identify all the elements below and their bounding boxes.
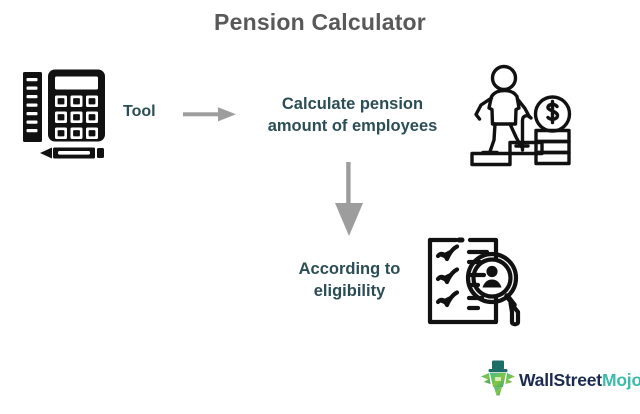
diagram-canvas: Pension Calculator (0, 0, 640, 414)
node-label-eligibility: According to eligibility (272, 258, 427, 302)
calculator-icon (22, 68, 108, 165)
node-label-tool: Tool (123, 103, 156, 121)
logo-wordmark-part-2: Mojo (602, 370, 640, 390)
node-label-eligibility-line-1: According to (272, 258, 427, 280)
node-label-eligibility-line-2: eligibility (272, 280, 427, 302)
arrow-down-icon (332, 162, 366, 243)
retirement-savings-icon (464, 62, 576, 175)
arrow-right-icon (183, 104, 237, 131)
node-label-calculate: Calculate pension amount of employees (250, 93, 455, 137)
bull-with-tophat-icon (481, 359, 515, 402)
eligibility-checklist-icon (426, 232, 530, 333)
node-label-calculate-line-2: amount of employees (250, 115, 455, 137)
page-title: Pension Calculator (0, 9, 640, 36)
wallstreetmojo-logo[interactable]: WallStreetMojo (481, 359, 640, 402)
node-label-calculate-line-1: Calculate pension (250, 93, 455, 115)
logo-wordmark-part-1: WallStreet (519, 370, 602, 390)
logo-wordmark: WallStreetMojo (519, 370, 640, 391)
